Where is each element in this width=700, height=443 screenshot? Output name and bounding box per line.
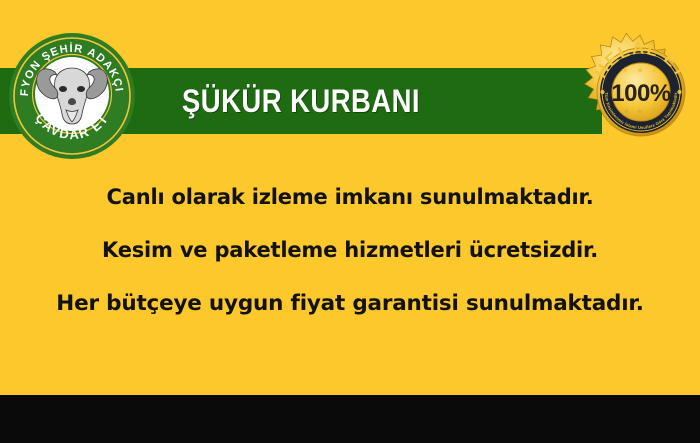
seal-stars-top: ★ ★ ★ (621, 66, 661, 76)
promo-message-line-1: Canlı olarak izleme imkanı sunulmaktadır… (0, 185, 700, 209)
promo-message-line-2: Kesim ve paketleme hizmetleri ücretsizdi… (0, 238, 700, 262)
seal-stars-bottom: ★ ★ ★ (623, 107, 660, 116)
seal-left-dot (600, 90, 604, 94)
seal-center-text: 100% (611, 80, 671, 107)
bottom-black-bar (0, 395, 700, 443)
seal-right-dot (677, 90, 681, 94)
promo-banner-canvas: ŞÜKÜR KURBANI AFYON (0, 0, 700, 443)
company-logo-badge: AFYON ŞEHİR ADAKÇISI ÇAVDAR ET (8, 32, 136, 160)
helal-certification-seal: HELAL ET ★ ★ ★ 100% ★ ★ ★ Tüm Kesimlerim… (582, 33, 700, 151)
promo-message-list: Canlı olarak izleme imkanı sunulmaktadır… (0, 185, 700, 316)
promo-message-line-3: Her bütçeye uygun fiyat garantisi sunulm… (0, 291, 700, 316)
